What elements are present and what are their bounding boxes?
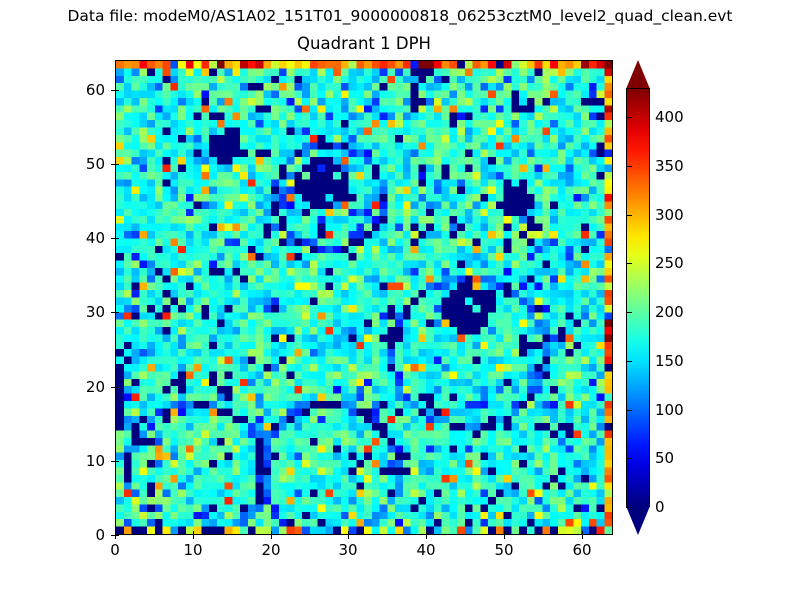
x-tick-mark — [193, 535, 194, 539]
plot-title: Quadrant 1 DPH — [115, 33, 613, 55]
y-tick-mark-inner — [115, 535, 119, 536]
x-tick-mark — [504, 535, 505, 539]
y-tick-mark-inner — [115, 461, 119, 462]
colorbar-tick-label: 350 — [655, 157, 684, 175]
x-tick-mark-inner — [504, 531, 505, 535]
y-tick-label: 60 — [55, 81, 105, 99]
heatmap-axes[interactable] — [115, 60, 613, 535]
colorbar-tick-label: 200 — [655, 303, 684, 321]
colorbar-tick-mark — [626, 263, 632, 264]
y-tick-label: 10 — [55, 452, 105, 470]
colorbar-tick-mark — [626, 458, 632, 459]
colorbar-tick-label: 50 — [655, 449, 674, 467]
colorbar-tick-label: 250 — [655, 254, 684, 272]
colorbar-over-arrow-icon — [626, 60, 650, 89]
x-tick-mark-inner — [193, 531, 194, 535]
x-tick-label: 50 — [474, 541, 534, 559]
x-tick-mark — [271, 535, 272, 539]
colorbar-tick-label: 400 — [655, 108, 684, 126]
colorbar-tick-mark — [626, 215, 632, 216]
x-tick-mark — [348, 535, 349, 539]
y-tick-mark-inner — [115, 164, 119, 165]
x-tick-label: 20 — [241, 541, 301, 559]
x-tick-label: 40 — [396, 541, 456, 559]
dph-heatmap-image[interactable] — [116, 61, 612, 534]
colorbar-gradient — [626, 88, 650, 507]
y-tick-mark-inner — [115, 90, 119, 91]
data-file-suptitle: Data file: modeM0/AS1A02_151T01_90000008… — [0, 6, 800, 26]
y-tick-label: 30 — [55, 303, 105, 321]
y-tick-mark-inner — [115, 312, 119, 313]
colorbar-tick-label: 100 — [655, 401, 684, 419]
y-tick-label: 40 — [55, 229, 105, 247]
y-tick-mark-inner — [115, 238, 119, 239]
colorbar-under-arrow-icon — [626, 506, 650, 535]
x-tick-mark — [582, 535, 583, 539]
x-tick-label: 30 — [318, 541, 378, 559]
x-tick-label: 60 — [552, 541, 612, 559]
x-tick-mark-inner — [271, 531, 272, 535]
y-tick-mark-inner — [115, 387, 119, 388]
colorbar-tick-mark — [626, 117, 632, 118]
colorbar-tick-mark — [626, 312, 632, 313]
colorbar-tick-label: 300 — [655, 206, 684, 224]
y-tick-label: 0 — [55, 526, 105, 544]
x-tick-label: 10 — [163, 541, 223, 559]
colorbar-tick-mark — [626, 507, 632, 508]
colorbar-tick-label: 150 — [655, 352, 684, 370]
y-tick-label: 20 — [55, 378, 105, 396]
x-tick-mark — [426, 535, 427, 539]
colorbar-tick-mark — [626, 361, 632, 362]
colorbar-tick-label: 0 — [655, 498, 665, 516]
colorbar[interactable] — [626, 60, 650, 535]
x-tick-mark-inner — [426, 531, 427, 535]
colorbar-tick-mark — [626, 410, 632, 411]
x-tick-mark-inner — [348, 531, 349, 535]
x-tick-mark-inner — [582, 531, 583, 535]
y-tick-label: 50 — [55, 155, 105, 173]
figure-canvas: Data file: modeM0/AS1A02_151T01_90000008… — [0, 0, 800, 600]
colorbar-tick-mark — [626, 166, 632, 167]
